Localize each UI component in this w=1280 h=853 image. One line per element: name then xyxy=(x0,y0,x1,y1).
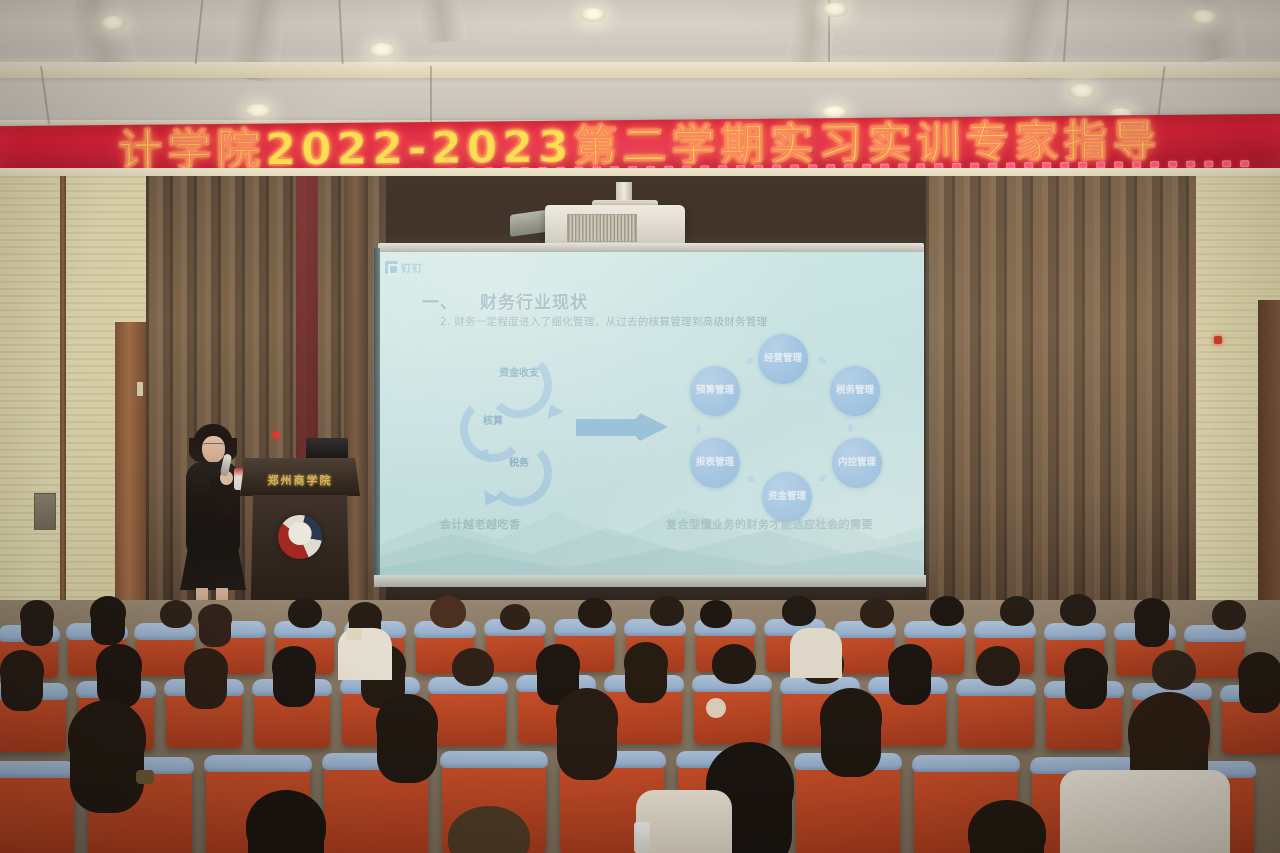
ceiling-downlight xyxy=(822,3,848,17)
bubble-connector-arrow-icon xyxy=(816,354,828,366)
audience-head xyxy=(1000,596,1034,626)
bubble-1: 税务管理 xyxy=(830,366,880,416)
audience-seat xyxy=(430,684,506,746)
ceiling-downlight xyxy=(1068,84,1096,99)
bubble-connector-arrow-icon xyxy=(744,354,757,367)
audience-person-body xyxy=(1060,770,1230,853)
slide-subtitle: 2. 财务一定程度进入了细化管理，从过去的核算管理到高级财务管理 xyxy=(440,314,767,329)
audience-hand xyxy=(706,698,726,718)
bubble-label: 报表管理 xyxy=(696,457,734,468)
ceiling-seam xyxy=(430,66,432,124)
audience-head xyxy=(930,596,964,626)
audience-head xyxy=(1238,652,1280,692)
ceiling-seam xyxy=(1063,0,1069,62)
cycle-label-1: 核算 xyxy=(458,416,528,428)
bubble-label: 税务管理 xyxy=(836,385,874,396)
audience-head xyxy=(90,596,126,628)
audience-head xyxy=(272,646,316,686)
ceiling xyxy=(0,0,1280,132)
audience-head xyxy=(700,600,732,628)
audience-head xyxy=(0,650,44,690)
audience-head xyxy=(976,646,1020,686)
bubble-2: 内控管理 xyxy=(832,438,882,488)
stage-curtain-right xyxy=(926,176,1196,646)
wall-trim-strip xyxy=(60,176,66,646)
projector-vent-grill xyxy=(567,214,637,242)
right-door-frame[interactable] xyxy=(1258,300,1280,646)
audience-head xyxy=(68,700,146,774)
slide-title: 一、财务行业现状 xyxy=(422,288,588,313)
podium-institution-label: 郑州商学院 xyxy=(240,472,360,488)
slide-app-logo: 钉钉 xyxy=(385,260,423,275)
audience-head xyxy=(888,644,932,684)
ceiling-band xyxy=(0,62,1280,78)
slide-title-number: 一、 xyxy=(422,293,458,313)
audience-head xyxy=(1128,692,1210,770)
audience-head xyxy=(650,596,684,626)
glasses-icon xyxy=(203,443,224,448)
ceiling-downlight xyxy=(1190,10,1217,25)
exit-indicator-light xyxy=(1214,336,1222,344)
dingtalk-logo-icon xyxy=(385,261,398,274)
slide-footer-right: 复合型懂业务的财务才能适应社会的需要 xyxy=(666,516,873,532)
audience-head xyxy=(500,604,530,630)
audience-head xyxy=(452,648,494,686)
projection-screen: 钉钉 一、财务行业现状 2. 财务一定程度进入了细化管理，从过去的核算管理到高级… xyxy=(380,252,924,578)
audience-head xyxy=(536,644,580,684)
ceiling-downlight xyxy=(100,16,126,31)
audience-head xyxy=(1134,598,1170,630)
hair-clip xyxy=(346,628,362,640)
bubble-label: 预算管理 xyxy=(696,385,734,396)
audience-person-body xyxy=(790,628,842,678)
audience-head xyxy=(1152,650,1196,690)
slide-left-cycle-diagram: 资金收支 核算 税务 xyxy=(458,352,588,492)
bubble-5: 预算管理 xyxy=(690,366,740,416)
door-handle[interactable] xyxy=(137,382,143,396)
audience-head xyxy=(1060,594,1096,626)
audience-seat xyxy=(0,768,74,853)
audience-head xyxy=(1212,600,1246,630)
audience-head xyxy=(1064,648,1108,688)
slide-transition-arrow-icon xyxy=(576,410,668,444)
audience-head xyxy=(578,598,612,628)
water-bottle xyxy=(634,822,650,853)
audience-head xyxy=(160,600,192,628)
audience-head xyxy=(184,648,228,688)
audience-head xyxy=(20,600,54,630)
bubble-label: 经营管理 xyxy=(764,353,802,364)
audience-person-body xyxy=(636,790,732,853)
ceiling-beam xyxy=(415,0,467,44)
screen-bottom-edge xyxy=(374,575,926,587)
audience-head xyxy=(782,596,816,626)
bubble-4: 报表管理 xyxy=(690,438,740,488)
audience-seat xyxy=(958,686,1034,748)
audience-head xyxy=(246,790,326,853)
ceiling-downlight xyxy=(244,104,272,118)
ceiling-seam xyxy=(195,0,203,64)
audience-seat xyxy=(694,682,770,744)
bubble-3: 资金管理 xyxy=(762,472,812,522)
podium-microphone-unit xyxy=(306,438,348,460)
bubble-label: 内控管理 xyxy=(838,457,876,468)
door-frame[interactable] xyxy=(115,322,149,642)
slide-footer-left: 会计越老越吃香 xyxy=(440,516,521,532)
audience-head xyxy=(712,644,756,684)
audience-head xyxy=(430,596,466,628)
slide-logo-text: 钉钉 xyxy=(401,260,423,275)
audience-head xyxy=(820,688,882,746)
university-crest-icon xyxy=(278,515,322,559)
audience-head xyxy=(198,604,232,632)
cycle-label-2: 税务 xyxy=(484,458,554,470)
ceiling-downlight xyxy=(368,43,396,58)
audience-seat xyxy=(836,628,894,674)
bubble-0: 经营管理 xyxy=(758,334,808,384)
cycle-label-0: 资金收支 xyxy=(484,368,554,380)
hair-clip xyxy=(136,770,154,784)
slide-title-text: 财务行业现状 xyxy=(480,293,588,313)
audience-head xyxy=(348,602,382,630)
presenter-face xyxy=(202,436,225,463)
lecture-hall-photo: 计学院2022-2023第二学期实习实训专家指导 xyxy=(0,0,1280,853)
ceiling-seam xyxy=(338,0,343,64)
audience-head xyxy=(624,642,668,682)
presenter-skirt xyxy=(180,542,246,590)
bubble-connector-arrow-icon xyxy=(846,424,856,434)
audience-head xyxy=(860,598,894,628)
audience-head xyxy=(288,598,322,628)
bubble-connector-arrow-icon xyxy=(694,424,703,433)
bubble-label: 资金管理 xyxy=(768,491,806,502)
audience-head xyxy=(376,694,438,752)
audience-head xyxy=(96,644,142,686)
ceiling-downlight xyxy=(580,8,606,22)
audience-head xyxy=(556,688,618,748)
wall-vent xyxy=(34,493,56,530)
podium-indicator-light xyxy=(273,432,279,438)
